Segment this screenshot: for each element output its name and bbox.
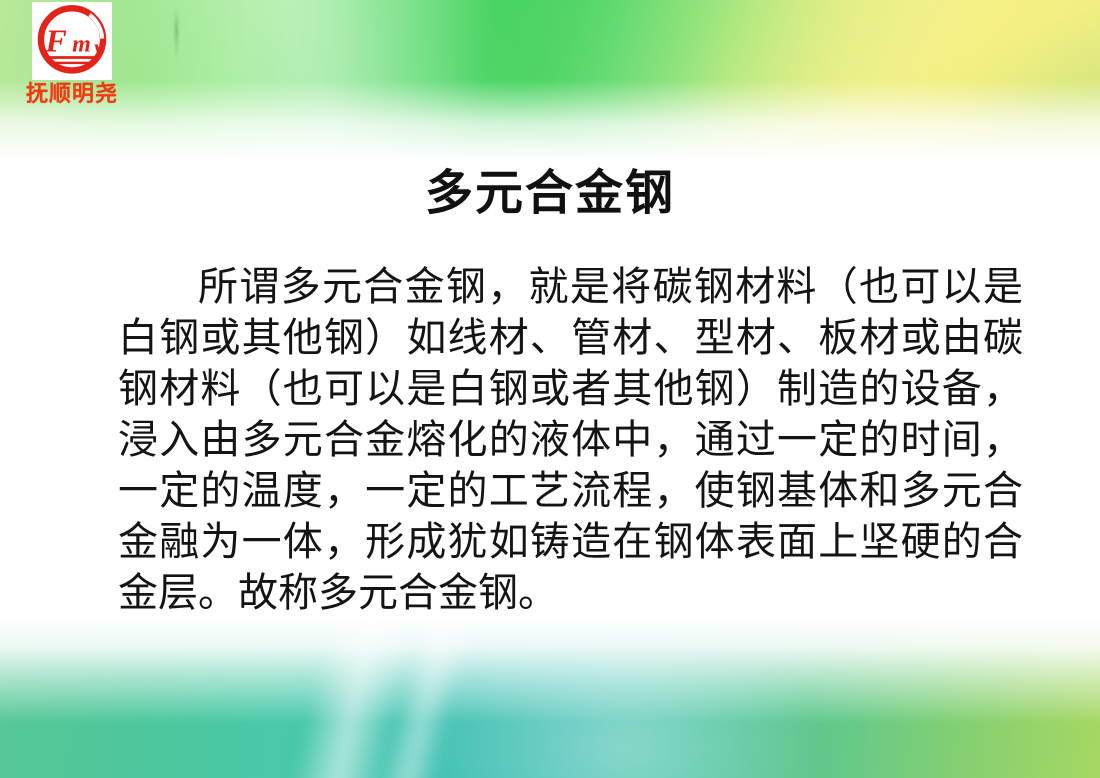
slide-body-text: 所谓多元合金钢，就是将碳钢材料（也可以是白钢或其他钢）如线材、管材、型材、板材或… [118, 262, 1023, 619]
svg-text:m: m [72, 31, 91, 57]
fmy-logo-icon: F m y [32, 2, 112, 80]
logo-caption: 抚顺明尧 [26, 82, 154, 106]
svg-text:F: F [44, 23, 66, 58]
slide-canvas: F m y 抚顺明尧 多元合金钢 所谓多元合金钢，就是将碳钢材料（也可以是白钢或… [0, 0, 1100, 778]
slide-content: 多元合金钢 所谓多元合金钢，就是将碳钢材料（也可以是白钢或其他钢）如线材、管材、… [0, 0, 1100, 778]
slide-title: 多元合金钢 [0, 165, 1100, 223]
company-logo[interactable]: F m y 抚顺明尧 [14, 2, 154, 106]
